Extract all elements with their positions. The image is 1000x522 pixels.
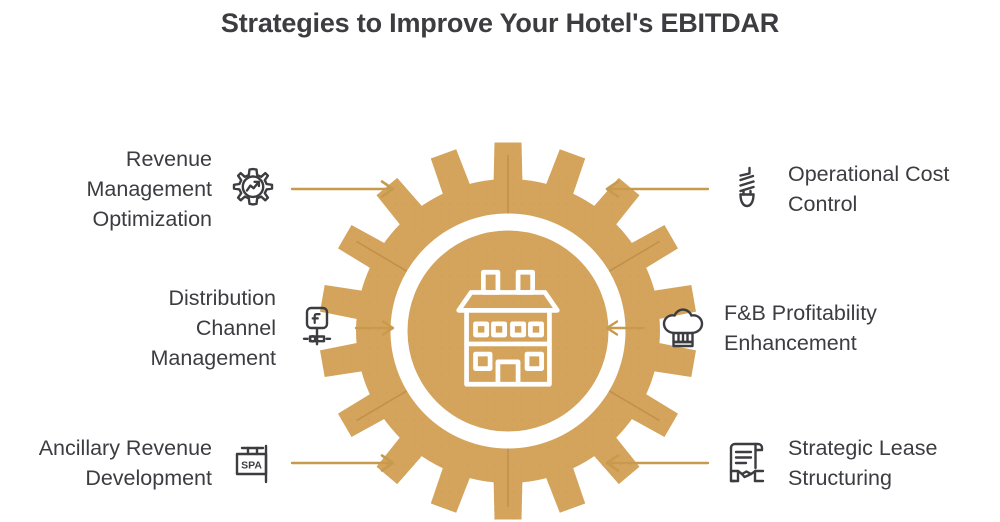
- strategy-item-operational-cost-control[interactable]: Operational Cost Control: [600, 139, 1000, 239]
- svg-text:SPA: SPA: [241, 459, 262, 471]
- gear-hub-texture: [410, 233, 606, 429]
- strategy-item-strategic-lease-structuring[interactable]: Strategic Lease Structuring: [600, 413, 1000, 513]
- arrow-left-icon: [600, 453, 710, 473]
- arrow-left-icon: [600, 318, 646, 338]
- infographic-canvas: Strategies to Improve Your Hotel's EBITD…: [0, 0, 1000, 513]
- strategy-label: Strategic Lease Structuring: [788, 433, 937, 493]
- strategy-item-revenue-management-optimization[interactable]: Revenue Management Optimization: [0, 139, 400, 239]
- distribution-channel-icon: [290, 301, 344, 355]
- lease-contract-handshake-icon: [720, 436, 774, 490]
- strategy-item-fb-profitability-enhancement[interactable]: F&B Profitability Enhancement: [600, 278, 1000, 378]
- spa-sign-icon: SPA: [226, 436, 280, 490]
- arrow-left-icon: [600, 179, 710, 199]
- strategy-item-distribution-channel-management[interactable]: Distribution Channel Management: [0, 278, 400, 378]
- arrow-right-icon: [290, 179, 400, 199]
- strategy-label: Operational Cost Control: [788, 159, 949, 219]
- strategy-label: F&B Profitability Enhancement: [724, 298, 877, 358]
- strategy-label: Ancillary Revenue Development: [39, 433, 212, 493]
- cfl-bulb-icon: [720, 162, 774, 216]
- strategy-label: Distribution Channel Management: [151, 283, 277, 373]
- gear-chart-icon: [226, 162, 280, 216]
- page-title: Strategies to Improve Your Hotel's EBITD…: [0, 8, 1000, 39]
- chef-hat-icon: [656, 301, 710, 355]
- arrow-right-icon: [354, 318, 400, 338]
- arrow-right-icon: [290, 453, 400, 473]
- strategy-label: Revenue Management Optimization: [87, 144, 213, 234]
- strategy-item-ancillary-revenue-development[interactable]: Ancillary Revenue Development SPA: [0, 413, 400, 513]
